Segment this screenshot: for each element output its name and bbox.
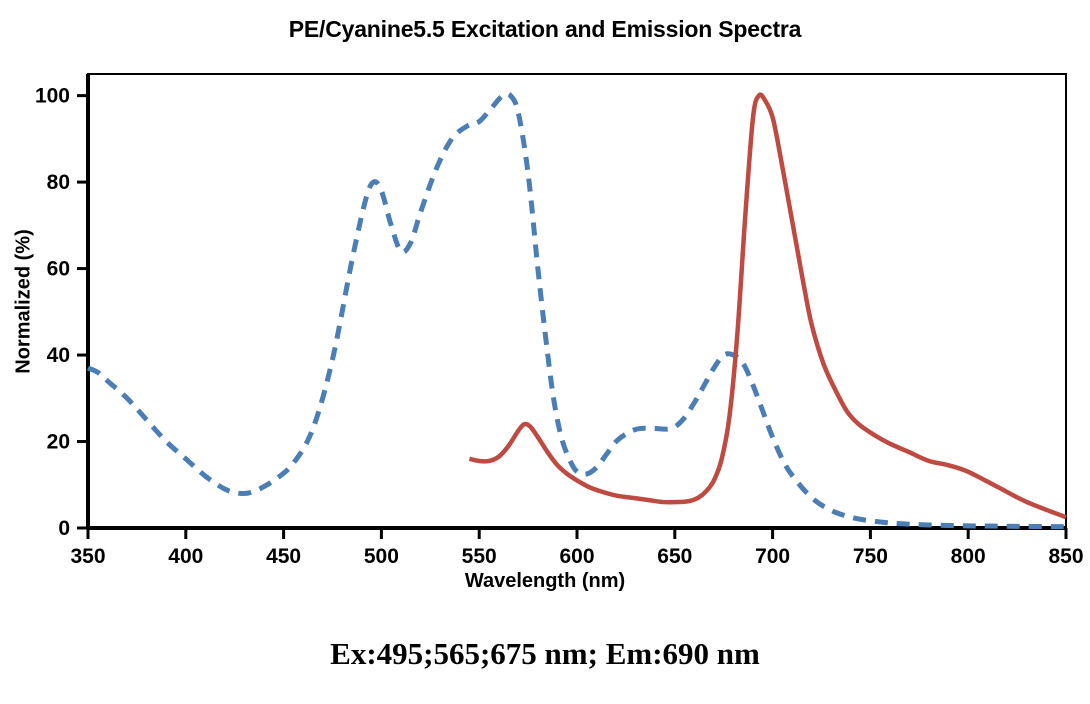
x-tick-label: 600 — [559, 545, 594, 568]
y-tick-label: 100 — [35, 85, 70, 108]
x-tick-label: 750 — [853, 545, 888, 568]
plot-border — [88, 74, 1066, 528]
y-tick-label: 20 — [47, 431, 70, 454]
x-axis-ticks: 350400450500550600650700750800850 — [70, 528, 1083, 568]
y-axis-label: Normalized (%) — [13, 192, 36, 412]
chart-caption: Ex:495;565;675 nm; Em:690 nm — [0, 636, 1090, 672]
series-line-excitation — [88, 94, 1066, 527]
y-axis-ticks: 020406080100 — [35, 85, 88, 540]
x-tick-label: 700 — [755, 545, 790, 568]
x-tick-label: 550 — [462, 545, 497, 568]
y-tick-label: 0 — [58, 517, 70, 540]
plot-frame — [88, 74, 1066, 528]
x-tick-label: 500 — [364, 545, 399, 568]
x-tick-label: 400 — [168, 545, 203, 568]
spectra-figure: PE/Cyanine5.5 Excitation and Emission Sp… — [0, 0, 1090, 704]
y-tick-label: 80 — [47, 171, 70, 194]
x-tick-label: 350 — [70, 545, 105, 568]
x-tick-label: 450 — [266, 545, 301, 568]
y-tick-label: 40 — [47, 344, 70, 367]
series-line-emission — [469, 95, 1066, 518]
x-tick-label: 850 — [1048, 545, 1083, 568]
x-tick-label: 800 — [951, 545, 986, 568]
y-tick-label: 60 — [47, 258, 70, 281]
plot-canvas: 350400450500550600650700750800850 020406… — [0, 0, 1090, 704]
x-axis-label: Wavelength (nm) — [0, 570, 1090, 593]
x-tick-label: 650 — [657, 545, 692, 568]
series-layer — [88, 94, 1066, 527]
